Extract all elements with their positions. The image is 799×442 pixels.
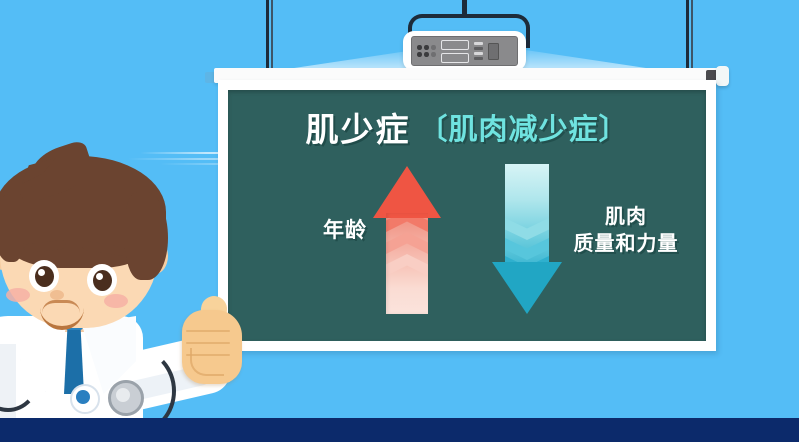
projector-panel [411, 36, 518, 66]
projector-dot [424, 52, 429, 57]
doctor-knuckle-line [186, 342, 230, 344]
projector-dot [417, 52, 422, 57]
doctor-badge-emblem [76, 390, 90, 404]
doctor-knuckle-line [186, 330, 230, 332]
doctor-eye-glint-right [96, 273, 103, 280]
doctor-hand-curl [190, 348, 224, 376]
title-sub-text: 〔肌肉减少症〕 [418, 106, 628, 148]
label-muscle: 肌肉 质量和力量 [566, 203, 686, 257]
projector-vent-slots [441, 40, 469, 63]
projector-slot [441, 40, 469, 50]
arrow-up-shading [386, 213, 428, 314]
projector-bar [474, 57, 483, 60]
ceiling-rod-right [686, 0, 689, 78]
projector-lens-chip [488, 43, 499, 60]
projector-bar [474, 52, 483, 55]
doctor-nose [50, 290, 64, 300]
scene-root: 肌少症 〔肌肉减少症〕 年龄 肌肉 质量和力量 [0, 0, 799, 442]
arrow-down-head [492, 262, 562, 314]
projector-dot [417, 45, 422, 50]
projector-dot [431, 45, 436, 50]
projector-dot [424, 45, 429, 50]
projector-bar [474, 47, 483, 50]
projector-dot [431, 52, 436, 57]
cartoon-doctor [0, 148, 251, 420]
title-main-text: 肌少症 [305, 103, 410, 151]
doctor-hair-side-left [0, 194, 24, 262]
label-muscle-line2: 质量和力量 [566, 230, 686, 257]
arrow-down-blue [492, 164, 562, 314]
doctor-hair-side-right [126, 192, 168, 280]
screen-rail-knob[interactable] [716, 66, 729, 86]
projector-bar [474, 42, 483, 45]
projector-indicator-bars [474, 42, 483, 60]
doctor-pupil-left [35, 266, 54, 287]
projector-slot [441, 53, 469, 63]
doctor-pupil-right [93, 270, 112, 291]
stethoscope-bell-inner [116, 388, 130, 402]
board-title: 肌少症 〔肌肉减少症〕 [228, 104, 706, 150]
label-age: 年龄 [305, 214, 385, 244]
arrow-up-head [373, 166, 441, 218]
projector-dot-grid [417, 45, 436, 57]
doctor-eye-glint-left [38, 269, 45, 276]
ceiling-rod-left [266, 0, 269, 78]
ceiling-rod-left-shadow [271, 0, 273, 78]
bottom-bar [0, 418, 799, 442]
ceiling-rod-right-shadow [691, 0, 693, 78]
label-muscle-line1: 肌肉 [566, 203, 686, 230]
doctor-cheek-right [104, 294, 128, 308]
doctor-cheek-left [6, 288, 30, 302]
